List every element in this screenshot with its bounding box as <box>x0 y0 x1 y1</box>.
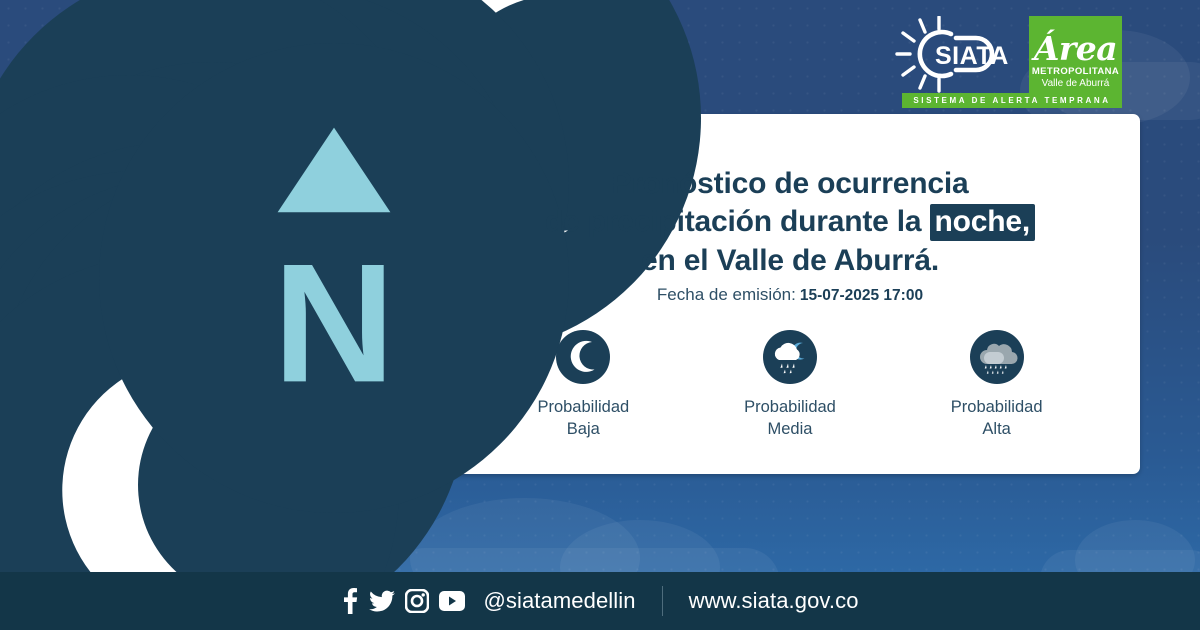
legend-alta-line2: Alta <box>982 420 1010 438</box>
website-url[interactable]: www.siata.gov.co <box>689 588 859 614</box>
legend-item-baja: Probabilidad Baja <box>493 330 673 441</box>
legend-media-line1: Probabilidad <box>744 398 836 416</box>
twitter-icon[interactable] <box>369 588 395 614</box>
headline-line-2: de precipitación durante la noche, <box>470 203 1110 241</box>
headline-highlight: noche, <box>930 204 1035 241</box>
footer-divider <box>662 586 663 616</box>
siata-logo-text: SIATA <box>935 42 1009 70</box>
siata-logo: SIATA <box>894 16 1019 94</box>
legend-item-media: Probabilidad Media <box>700 330 880 441</box>
legend-baja-line2: Baja <box>567 420 600 438</box>
legend-item-alta: Probabilidad Alta <box>907 330 1087 441</box>
cloud-moon-rain-icon <box>763 330 817 384</box>
legend-alta-line1: Probabilidad <box>951 398 1043 416</box>
headline-line-2-text: de precipitación durante la <box>545 205 921 238</box>
social-icons <box>341 588 465 614</box>
social-handle[interactable]: @siatamedellin <box>483 588 635 614</box>
emission-label: Fecha de emisión: <box>657 285 796 304</box>
facebook-icon[interactable] <box>341 588 359 614</box>
legend-label-baja: Probabilidad Baja <box>537 396 629 441</box>
instagram-icon[interactable] <box>405 589 429 613</box>
emission-value: 15-07-2025 17:00 <box>800 287 923 304</box>
forecast-poster: SIATA Área METROPOLITANA Valle de Aburrá… <box>0 0 1200 630</box>
legend-baja-line1: Probabilidad <box>537 398 629 416</box>
header-logos: SIATA Área METROPOLITANA Valle de Aburrá <box>894 16 1122 94</box>
headline-line-1: Pronóstico de ocurrencia <box>470 165 1110 203</box>
compass-label: N <box>273 228 395 417</box>
moon-icon <box>556 330 610 384</box>
legend-label-media: Probabilidad Media <box>744 396 836 441</box>
tagline-bar: SISTEMA DE ALERTA TEMPRANA <box>902 93 1122 108</box>
headline: Pronóstico de ocurrencia de precipitació… <box>470 165 1110 280</box>
area-line1: METROPOLITANA <box>1032 67 1119 78</box>
legend-media-line2: Media <box>768 420 813 438</box>
legend-label-alta: Probabilidad Alta <box>951 396 1043 441</box>
valle-de-aburra-map: N <box>60 55 530 575</box>
area-script-text: Área <box>1034 32 1117 65</box>
tagline-text: SISTEMA DE ALERTA TEMPRANA <box>913 96 1110 105</box>
emission-date: Fecha de emisión:15-07-2025 17:00 <box>470 285 1110 305</box>
cloud-heavy-rain-icon <box>970 330 1024 384</box>
area-metropolitana-logo: Área METROPOLITANA Valle de Aburrá <box>1029 16 1122 94</box>
youtube-icon[interactable] <box>439 591 465 611</box>
area-line2: Valle de Aburrá <box>1042 78 1110 90</box>
headline-line-3: en el Valle de Aburrá. <box>470 242 1110 280</box>
footer-bar: @siatamedellin www.siata.gov.co <box>0 572 1200 630</box>
probability-legend: Probabilidad Baja Probabilidad Media <box>480 330 1100 441</box>
